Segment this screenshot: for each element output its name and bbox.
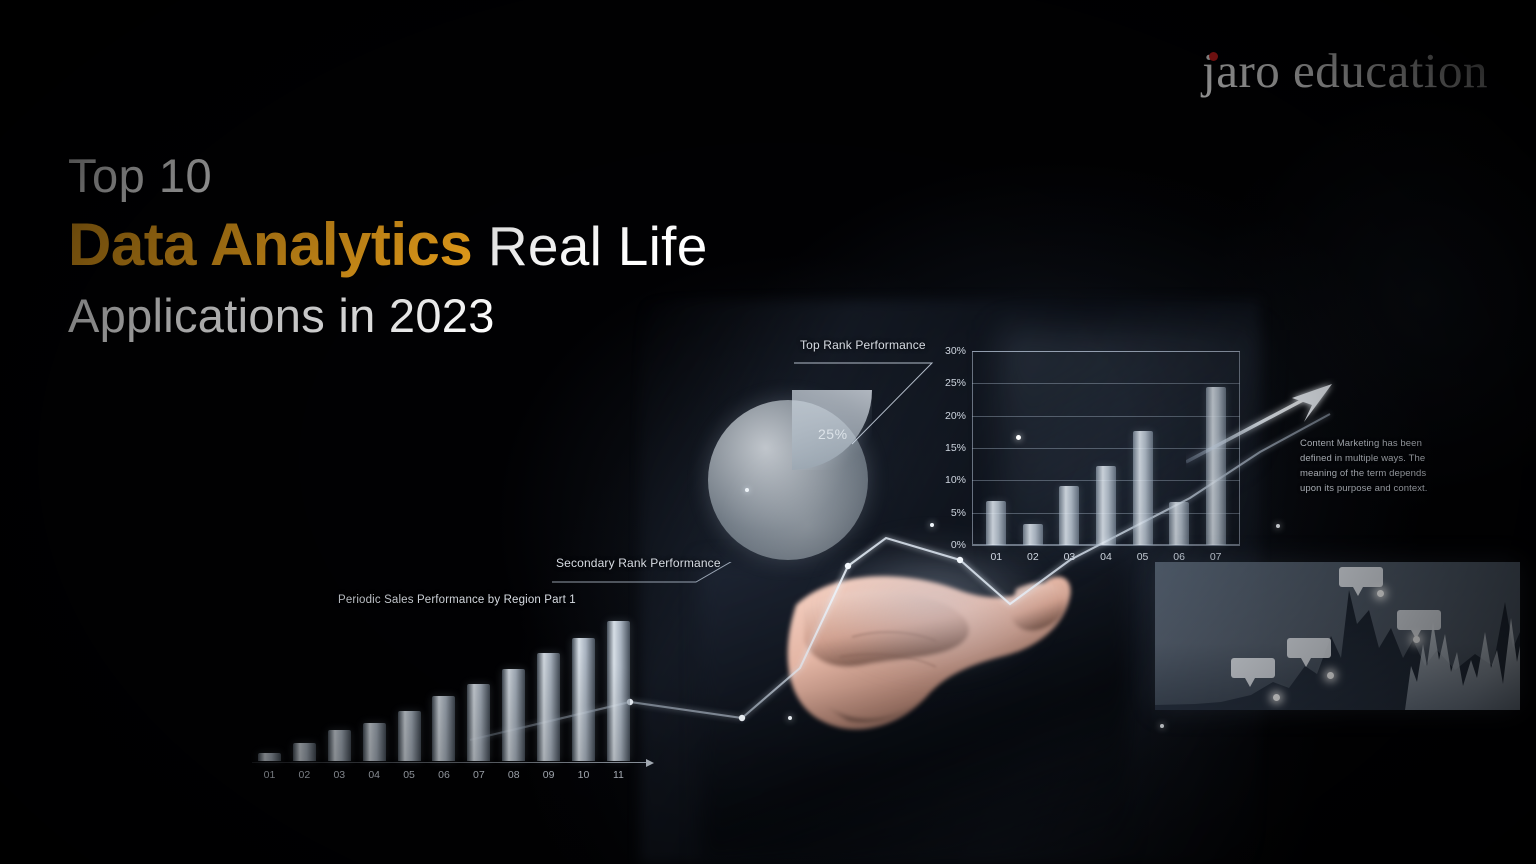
panel-area-chart bbox=[1155, 562, 1520, 710]
x-axis-tick-label: 05 bbox=[1137, 551, 1149, 563]
bar bbox=[432, 696, 455, 761]
y-axis-tick-label: 5% bbox=[951, 507, 966, 519]
bar bbox=[502, 669, 525, 761]
bar bbox=[467, 684, 490, 761]
bar bbox=[537, 653, 560, 761]
bar bbox=[293, 743, 316, 761]
bar-column[interactable]: 05 bbox=[398, 711, 421, 761]
panel-callout-dot bbox=[1413, 636, 1420, 643]
bar-column[interactable]: 03 bbox=[1059, 486, 1079, 545]
x-axis-tick-label: 05 bbox=[403, 769, 415, 781]
y-axis-tick-label: 25% bbox=[945, 377, 966, 389]
headline-line-2: Data Analytics Real Life bbox=[68, 215, 708, 275]
bar bbox=[607, 621, 630, 761]
headline-line-3: Applications in 2023 bbox=[68, 292, 708, 339]
y-axis-tick-label: 20% bbox=[945, 410, 966, 422]
bar-column[interactable]: 04 bbox=[1096, 466, 1116, 545]
analytics-panel[interactable] bbox=[1155, 562, 1520, 710]
right-chart-highlight-dot bbox=[1016, 435, 1021, 440]
ambient-dot bbox=[1276, 524, 1280, 528]
headline-accent: Data Analytics bbox=[68, 211, 472, 278]
bar bbox=[398, 711, 421, 761]
bar-column[interactable]: 07 bbox=[467, 684, 490, 761]
pie-center-dot bbox=[745, 488, 749, 492]
ambient-dot bbox=[1160, 724, 1164, 728]
panel-callout-bubble[interactable] bbox=[1231, 658, 1275, 678]
panel-callout-bubble[interactable] bbox=[1287, 638, 1331, 658]
panel-callout-bubble[interactable] bbox=[1397, 610, 1441, 630]
y-axis-tick-label: 0% bbox=[951, 539, 966, 551]
panel-callout-dot bbox=[1273, 694, 1280, 701]
left-chart-bars: 0102030405060708091011 bbox=[258, 615, 630, 761]
x-axis-tick-label: 07 bbox=[473, 769, 485, 781]
bar-column[interactable]: 06 bbox=[432, 696, 455, 761]
description-paragraph: Content Marketing has been defined in mu… bbox=[1300, 436, 1432, 496]
headline-line-2-rest: Real Life bbox=[488, 215, 708, 277]
y-axis-tick-label: 10% bbox=[945, 474, 966, 486]
x-axis-tick-label: 03 bbox=[333, 769, 345, 781]
bar bbox=[572, 638, 595, 761]
left-chart-axis-arrow-icon bbox=[646, 759, 654, 767]
gridline bbox=[972, 545, 1240, 546]
ambient-dot bbox=[788, 716, 792, 720]
bar-column[interactable]: 09 bbox=[537, 653, 560, 761]
bar bbox=[258, 753, 281, 761]
bar bbox=[1133, 431, 1153, 545]
bar-column[interactable]: 03 bbox=[328, 730, 351, 761]
x-axis-tick-label: 04 bbox=[1100, 551, 1112, 563]
ambient-dot bbox=[930, 523, 934, 527]
headline-line-1: Top 10 bbox=[68, 152, 708, 199]
x-axis-tick-label: 10 bbox=[578, 769, 590, 781]
bar-column[interactable]: 01 bbox=[986, 501, 1006, 545]
poster-canvas: jaro education Top 10 Data Analytics Rea… bbox=[0, 0, 1536, 864]
bar bbox=[328, 730, 351, 761]
bar bbox=[1023, 524, 1043, 545]
open-hand bbox=[760, 545, 1120, 775]
bar-column[interactable]: 11 bbox=[607, 621, 630, 761]
top-rank-leader-line bbox=[790, 344, 960, 454]
panel-callout-bubble[interactable] bbox=[1339, 567, 1383, 587]
bar-column[interactable]: 02 bbox=[1023, 524, 1043, 545]
left-chart-axis bbox=[252, 762, 646, 763]
x-axis-tick-label: 06 bbox=[438, 769, 450, 781]
x-axis-tick-label: 09 bbox=[543, 769, 555, 781]
bar-column[interactable]: 06 bbox=[1169, 502, 1189, 545]
left-chart-title: Periodic Sales Performance by Region Par… bbox=[338, 594, 576, 606]
bar bbox=[1059, 486, 1079, 545]
bar-column[interactable]: 02 bbox=[293, 743, 316, 761]
bar-column[interactable]: 04 bbox=[363, 723, 386, 761]
brand-logo[interactable]: jaro education bbox=[1202, 42, 1488, 99]
x-axis-tick-label: 03 bbox=[1064, 551, 1076, 563]
x-axis-tick-label: 02 bbox=[299, 769, 311, 781]
page-title: Top 10 Data Analytics Real Life Applicat… bbox=[68, 152, 708, 339]
y-axis-tick-label: 15% bbox=[945, 442, 966, 454]
brand-name: jaro education bbox=[1202, 43, 1488, 98]
bar bbox=[986, 501, 1006, 545]
bar-column[interactable]: 05 bbox=[1133, 431, 1153, 545]
x-axis-tick-label: 02 bbox=[1027, 551, 1039, 563]
bar-column[interactable]: 08 bbox=[502, 669, 525, 761]
bar-column[interactable]: 01 bbox=[258, 753, 281, 761]
bar-column[interactable]: 10 bbox=[572, 638, 595, 761]
x-axis-tick-label: 08 bbox=[508, 769, 520, 781]
x-axis-tick-label: 01 bbox=[990, 551, 1002, 563]
bar bbox=[1096, 466, 1116, 545]
bar bbox=[363, 723, 386, 761]
x-axis-tick-label: 01 bbox=[264, 769, 276, 781]
x-axis-tick-label: 04 bbox=[368, 769, 380, 781]
x-axis-tick-label: 11 bbox=[613, 769, 624, 781]
panel-callout-dot bbox=[1377, 590, 1384, 597]
panel-callout-dot bbox=[1327, 672, 1334, 679]
bar bbox=[1169, 502, 1189, 545]
left-bar-chart: 0102030405060708091011 bbox=[258, 615, 630, 761]
y-axis-tick-label: 30% bbox=[945, 345, 966, 357]
